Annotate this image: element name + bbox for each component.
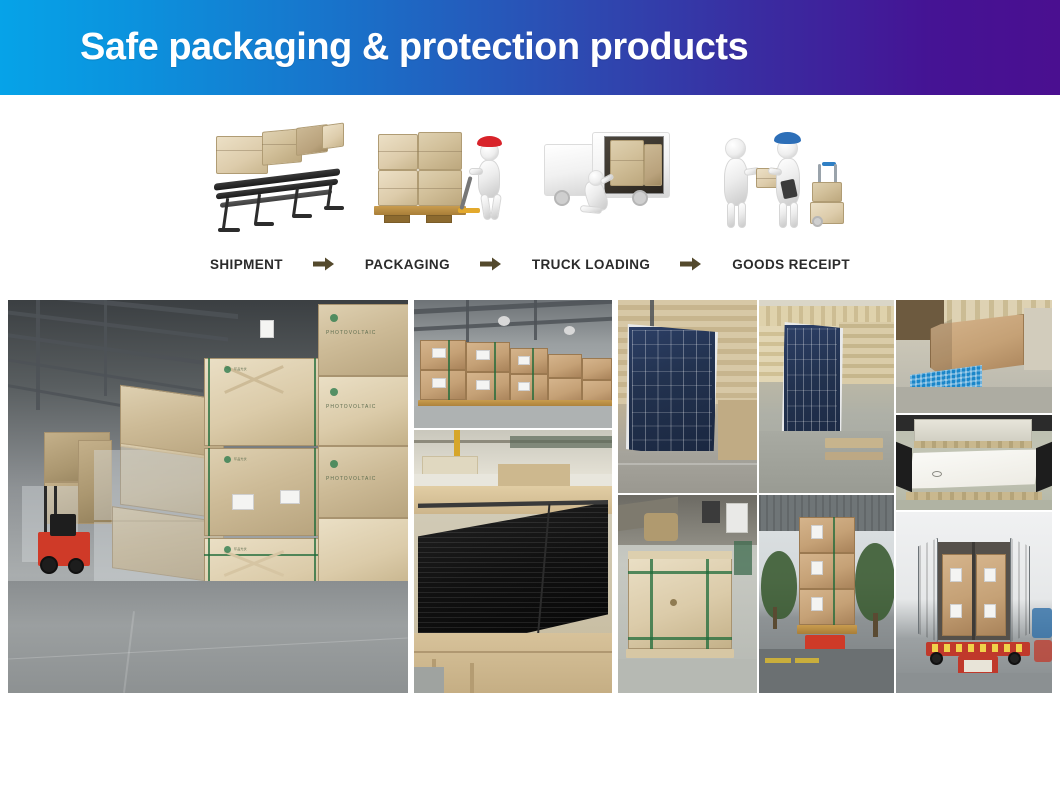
arrow-right-icon [313,256,335,272]
photo-poly-panel-vertical [618,300,757,493]
photo-carton-box-stacks [414,300,612,428]
slide-header-banner: Safe packaging & protection products [0,0,1060,95]
pallet-jack-worker-icon [370,118,520,243]
stage-label-shipment: SHIPMENT [210,257,283,272]
photo-forklift-outdoor-transport [759,495,894,693]
photo-wooden-crate-strapped [618,495,757,693]
photo-warehouse-pallet-stacks: 环品光伏 环品光伏 环品光伏 PHOTOVOLTAIC [8,300,408,693]
page-title: Safe packaging & protection products [80,26,748,69]
slide-root: Safe packaging & protection products [0,0,1060,785]
photo-mono-panel-vertical [759,300,894,493]
photo-carton-box-on-blue-pallet [896,300,1052,413]
stage-label-goods-receipt: GOODS RECEIPT [732,257,850,272]
process-label-row: SHIPMENT PACKAGING TRUCK LOADING GOODS R… [210,249,850,279]
truck-loading-icon [540,118,690,243]
conveyor-boxes-icon [210,118,350,243]
stage-label-truck-loading: TRUCK LOADING [532,257,650,272]
photo-white-back-panel [896,415,1052,510]
stage-label-packaging: PACKAGING [365,257,450,272]
arrow-right-icon [680,256,702,272]
process-stage-artwork-row [210,118,850,243]
handover-clipboard-icon [710,118,850,243]
photo-black-solar-panel-closeup [414,430,612,693]
photo-container-loading [896,512,1052,693]
process-infographic: SHIPMENT PACKAGING TRUCK LOADING GOODS R… [210,118,850,278]
arrow-right-icon [480,256,502,272]
